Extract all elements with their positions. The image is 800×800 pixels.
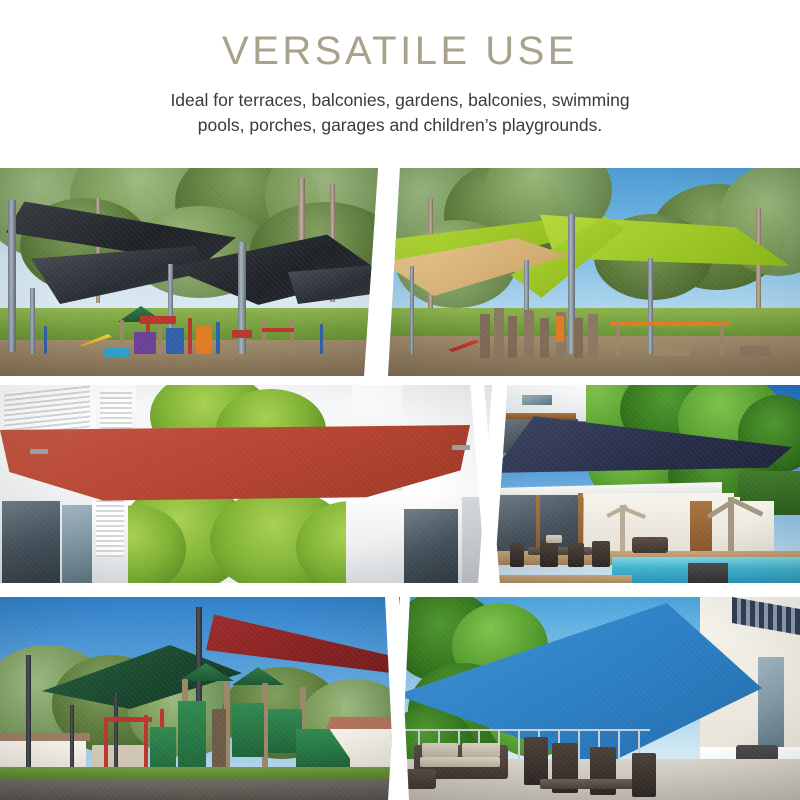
row-mixed — [0, 597, 800, 800]
photo-green-maroon-sails-playground — [0, 597, 400, 800]
subtitle-line-1: Ideal for terraces, balconies, gardens, … — [0, 88, 800, 113]
photo-collage — [0, 160, 800, 800]
subtitle-line-2: pools, porches, garages and children’s p… — [0, 113, 800, 138]
page-subtitle: Ideal for terraces, balconies, gardens, … — [0, 88, 800, 139]
photo-blue-sail-balcony — [400, 597, 800, 800]
page-title: VERSATILE USE — [0, 28, 800, 74]
photo-black-sails-playground — [0, 168, 378, 376]
header-block: VERSATILE USE Ideal for terraces, balcon… — [0, 0, 800, 139]
row-playgrounds — [0, 168, 800, 376]
row-residential — [0, 385, 800, 583]
photo-rust-sail-courtyard — [0, 385, 492, 583]
photo-lime-tan-sails-playground — [388, 168, 800, 376]
photo-navy-sail-poolside — [492, 385, 800, 583]
